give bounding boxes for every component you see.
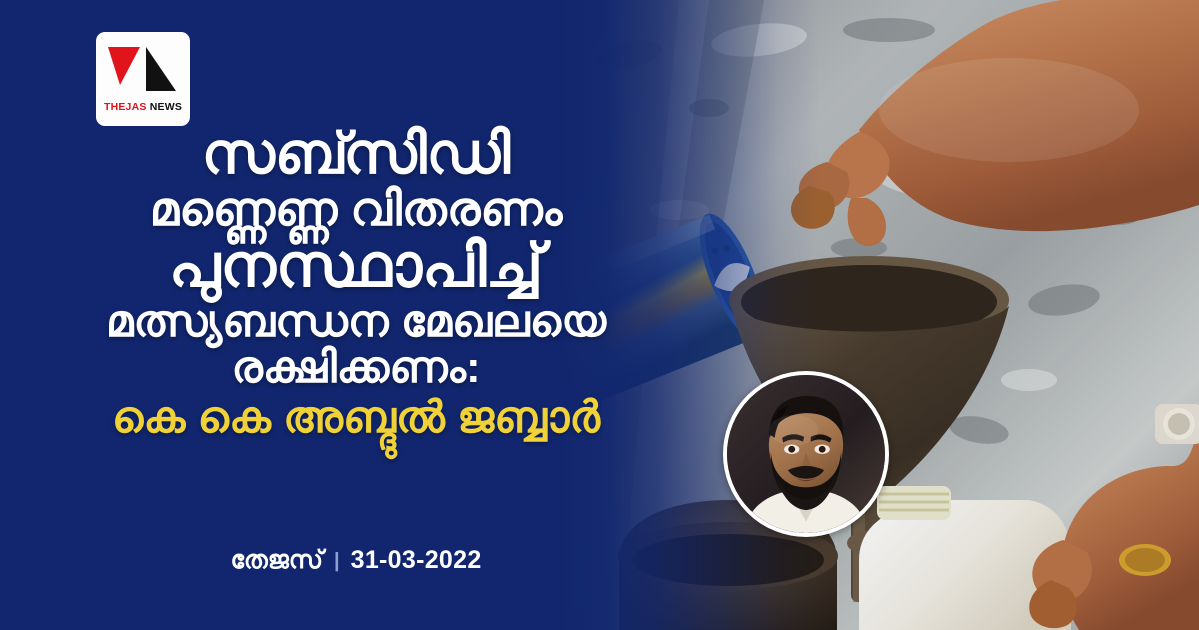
- headline-attribution-name: കെ കെ അബ്ദുൽ ജബ്ബാർ: [0, 396, 712, 440]
- headline-line-2: മണ്ണെണ്ണ വിതരണം: [0, 185, 712, 236]
- kk-abdul-jabbar-portrait: [723, 371, 889, 537]
- thejas-news-logo[interactable]: THEJAS NEWS: [96, 32, 190, 126]
- logo-word-news: NEWS: [150, 101, 182, 113]
- headline-line-4: മത്സ്യബന്ധന മേഖലയെ: [0, 300, 712, 346]
- headline-line-1: സബ്സിഡി: [0, 126, 712, 185]
- footer-credit: തേജസ് | 31-03-2022: [0, 548, 712, 573]
- headline-line-3: പുനസ്ഥാപിച്ച്: [0, 236, 712, 300]
- footer-date: 31-03-2022: [351, 548, 482, 573]
- footer-brand-thejas: തേജസ്: [230, 548, 323, 573]
- footer-separator: |: [334, 551, 340, 571]
- logo-wordmark: THEJAS NEWS: [104, 102, 182, 113]
- headline-block: സബ്സിഡി മണ്ണെണ്ണ വിതരണം പുനസ്ഥാപിച്ച് മത…: [0, 126, 712, 440]
- logo-word-thejas: THEJAS: [104, 101, 147, 113]
- logo-triangles-icon: [106, 45, 180, 97]
- headline-line-5: രക്ഷിക്കണം:: [0, 346, 712, 396]
- news-card: THEJAS NEWS സബ്സിഡി മണ്ണെണ്ണ വിതരണം പുനസ…: [0, 0, 1199, 630]
